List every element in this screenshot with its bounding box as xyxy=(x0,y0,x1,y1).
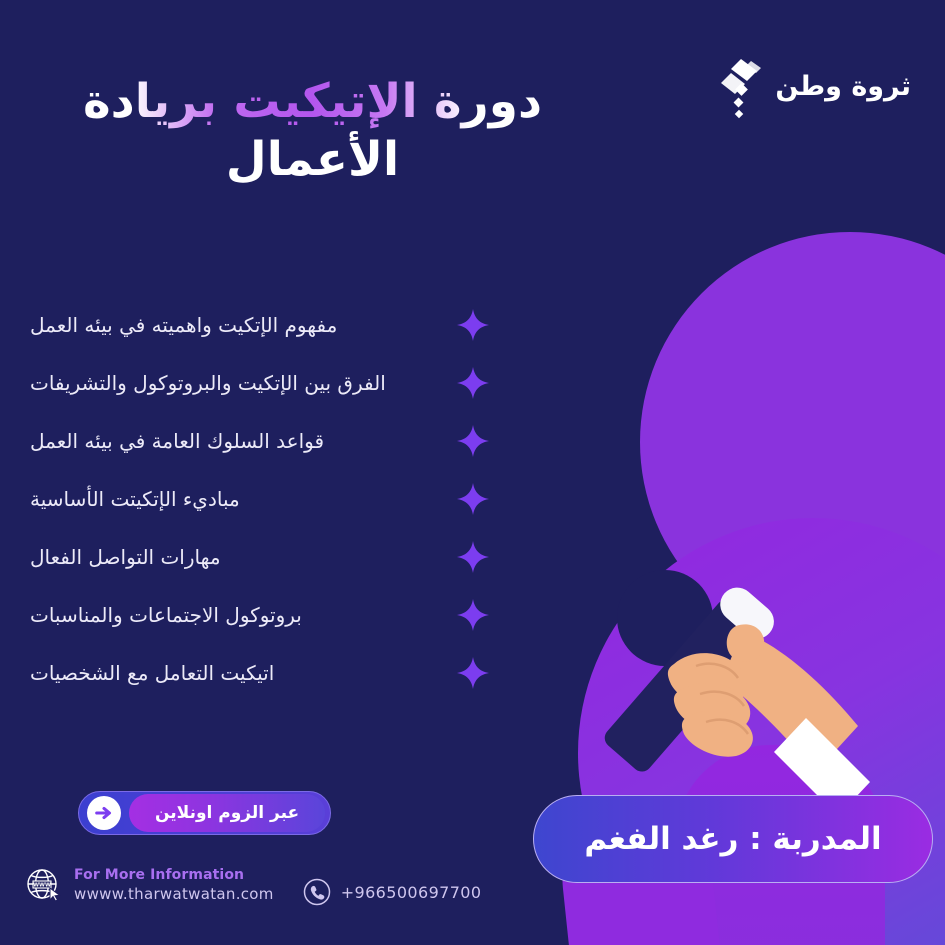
sparkle-star-icon xyxy=(456,366,490,400)
sparkle-star-icon xyxy=(456,656,490,690)
phone-handset-icon xyxy=(302,877,332,907)
website-contact[interactable]: WWW For More Information wwww.tharwatwat… xyxy=(22,864,274,906)
list-item-label: مفهوم الإتكيت واهميته في بيئه العمل xyxy=(30,313,440,337)
list-item: الفرق بين الإتكيت والبروتوكول والتشريفات xyxy=(30,354,490,412)
website-text-stack: For More Information wwww.tharwatwatan.c… xyxy=(74,867,274,903)
svg-text:WWW: WWW xyxy=(33,883,51,889)
list-item-label: قواعد السلوك العامة في بيئه العمل xyxy=(30,429,440,453)
list-item-label: مهارات التواصل الفعال xyxy=(30,545,440,569)
list-item: مهارات التواصل الفعال xyxy=(30,528,490,586)
trainer-name: المدربة : رغد الفغم xyxy=(584,824,881,855)
more-info-label: For More Information xyxy=(74,867,274,883)
list-item-label: اتيكيت التعامل مع الشخصيات xyxy=(30,661,440,685)
sparkle-star-icon xyxy=(456,482,490,516)
sparkle-star-icon xyxy=(456,308,490,342)
list-item-label: الفرق بين الإتكيت والبروتوكول والتشريفات xyxy=(30,371,440,395)
list-item: مفهوم الإتكيت واهميته في بيئه العمل xyxy=(30,296,490,354)
list-item: اتيكيت التعامل مع الشخصيات xyxy=(30,644,490,702)
brand-logo: ثروة وطن xyxy=(711,55,911,121)
list-item: بروتوكول الاجتماعات والمناسبات xyxy=(30,586,490,644)
sparkle-star-icon xyxy=(456,424,490,458)
arrow-right-circle-icon[interactable] xyxy=(87,796,121,830)
online-zoom-cta-button[interactable]: عبر الزوم اونلاين xyxy=(78,791,331,835)
brand-logo-text: ثروة وطن xyxy=(775,73,911,104)
sparkle-star-icon xyxy=(456,598,490,632)
globe-www-cursor-icon: WWW xyxy=(22,864,64,906)
list-item: قواعد السلوك العامة في بيئه العمل xyxy=(30,412,490,470)
website-url[interactable]: wwww.tharwatwatan.com xyxy=(74,885,274,903)
cta-pill[interactable]: عبر الزوم اونلاين xyxy=(129,794,325,832)
footer-contact: WWW For More Information wwww.tharwatwat… xyxy=(22,863,481,907)
topics-list: مفهوم الإتكيت واهميته في بيئه العمل الفر… xyxy=(30,296,490,702)
trainer-banner: المدربة : رغد الفغم xyxy=(533,795,933,883)
page-title: دورة الإتيكيت بريادة الأعمال xyxy=(0,72,615,190)
calligraphy-monogram-icon xyxy=(711,55,765,121)
list-item: مباديء الإتكيتت الأساسية xyxy=(30,470,490,528)
list-item-label: بروتوكول الاجتماعات والمناسبات xyxy=(30,603,440,627)
course-poster: ثروة وطن دورة الإتيكيت بريادة الأعمال xyxy=(0,0,945,945)
title-line-1: دورة الإتيكيت بريادة xyxy=(10,72,615,132)
phone-contact[interactable]: +966500697700 xyxy=(302,863,482,907)
title-line-2: الأعمال xyxy=(10,130,615,190)
phone-number[interactable]: +966500697700 xyxy=(341,883,482,902)
cta-label: عبر الزوم اونلاين xyxy=(155,805,299,822)
list-item-label: مباديء الإتكيتت الأساسية xyxy=(30,487,440,511)
sparkle-star-icon xyxy=(456,540,490,574)
